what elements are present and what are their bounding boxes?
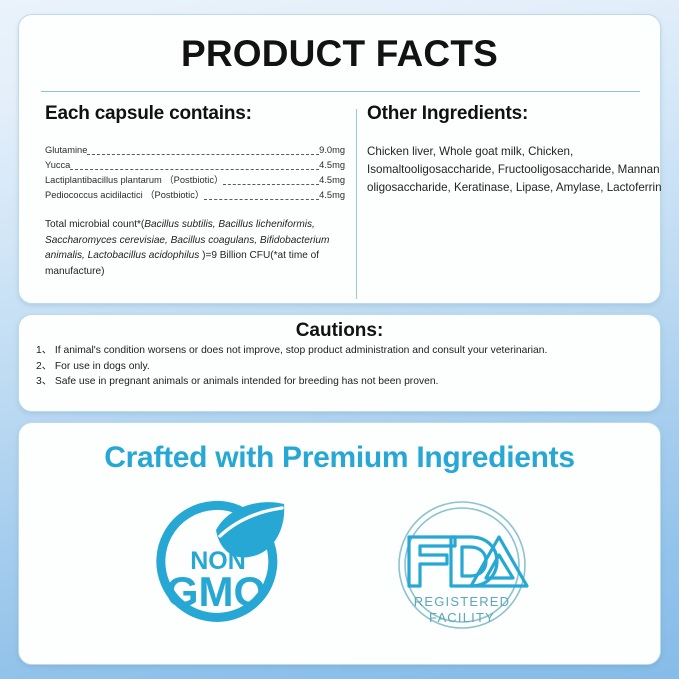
leader-dots <box>87 153 319 155</box>
cautions-heading: Cautions: <box>19 320 660 342</box>
ingredient-name: Glutamine <box>45 143 87 158</box>
product-facts-card: PRODUCT FACTS Each capsule contains: Glu… <box>18 14 661 304</box>
total-prefix: Total microbial count*( <box>45 219 144 230</box>
non-gmo-line2: GMO <box>165 568 265 615</box>
premium-card: Crafted with Premium Ingredients NON GMO <box>18 422 661 665</box>
leader-dots <box>223 183 319 185</box>
caution-item: 2、 For use in dogs only. <box>36 359 648 375</box>
certification-badges: NON GMO REGISTERED FACILITY <box>19 493 660 658</box>
ingredient-amount: 4.5mg <box>319 188 345 203</box>
caution-item: 1、 If animal's condition worsens or does… <box>36 343 648 359</box>
ingredient-row: Yucca 4.5mg <box>45 158 345 173</box>
ingredient-row: Pediococcus acidilactici （Postbiotic） 4.… <box>45 188 345 203</box>
other-ingredients-heading: Other Ingredients: <box>367 103 667 125</box>
each-capsule-column: Each capsule contains: Glutamine 9.0mg Y… <box>45 103 345 279</box>
cautions-card: Cautions: 1、 If animal's condition worse… <box>18 314 661 412</box>
ingredient-amount: 4.5mg <box>319 158 345 173</box>
fda-line2: FACILITY <box>429 610 495 625</box>
total-microbial-count: Total microbial count*(Bacillus subtilis… <box>45 217 345 279</box>
cautions-list: 1、 If animal's condition worsens or does… <box>36 343 648 390</box>
fda-letter-f <box>409 537 455 586</box>
other-ingredients-column: Other Ingredients: Chicken liver, Whole … <box>367 103 667 198</box>
non-gmo-badge: NON GMO <box>143 493 293 648</box>
ingredient-row: Lactiplantibacillus plantarum （Postbioti… <box>45 173 345 188</box>
ingredient-row: Glutamine 9.0mg <box>45 143 345 158</box>
product-facts-label: PRODUCT FACTS Each capsule contains: Glu… <box>0 0 679 679</box>
ingredient-list: Glutamine 9.0mg Yucca 4.5mg Lactiplantib… <box>45 143 345 203</box>
premium-heading: Crafted with Premium Ingredients <box>19 441 660 475</box>
fda-icon: REGISTERED FACILITY <box>387 493 537 643</box>
ingredient-amount: 9.0mg <box>319 143 345 158</box>
ingredient-amount: 4.5mg <box>319 173 345 188</box>
ingredient-name: Pediococcus acidilactici （Postbiotic） <box>45 188 204 203</box>
fda-badge: REGISTERED FACILITY <box>387 493 537 648</box>
ingredient-name: Yucca <box>45 158 70 173</box>
leader-dots <box>70 168 319 170</box>
each-capsule-heading: Each capsule contains: <box>45 103 345 125</box>
fda-line1: REGISTERED <box>413 594 510 609</box>
title-divider <box>41 91 640 92</box>
other-ingredients-body: Chicken liver, Whole goat milk, Chicken,… <box>367 143 667 198</box>
page-title: PRODUCT FACTS <box>19 33 660 75</box>
non-gmo-icon: NON GMO <box>143 493 293 643</box>
column-divider <box>356 109 357 299</box>
ingredient-name: Lactiplantibacillus plantarum （Postbioti… <box>45 173 223 188</box>
caution-item: 3、 Safe use in pregnant animals or anima… <box>36 374 648 390</box>
leader-dots <box>204 198 319 200</box>
